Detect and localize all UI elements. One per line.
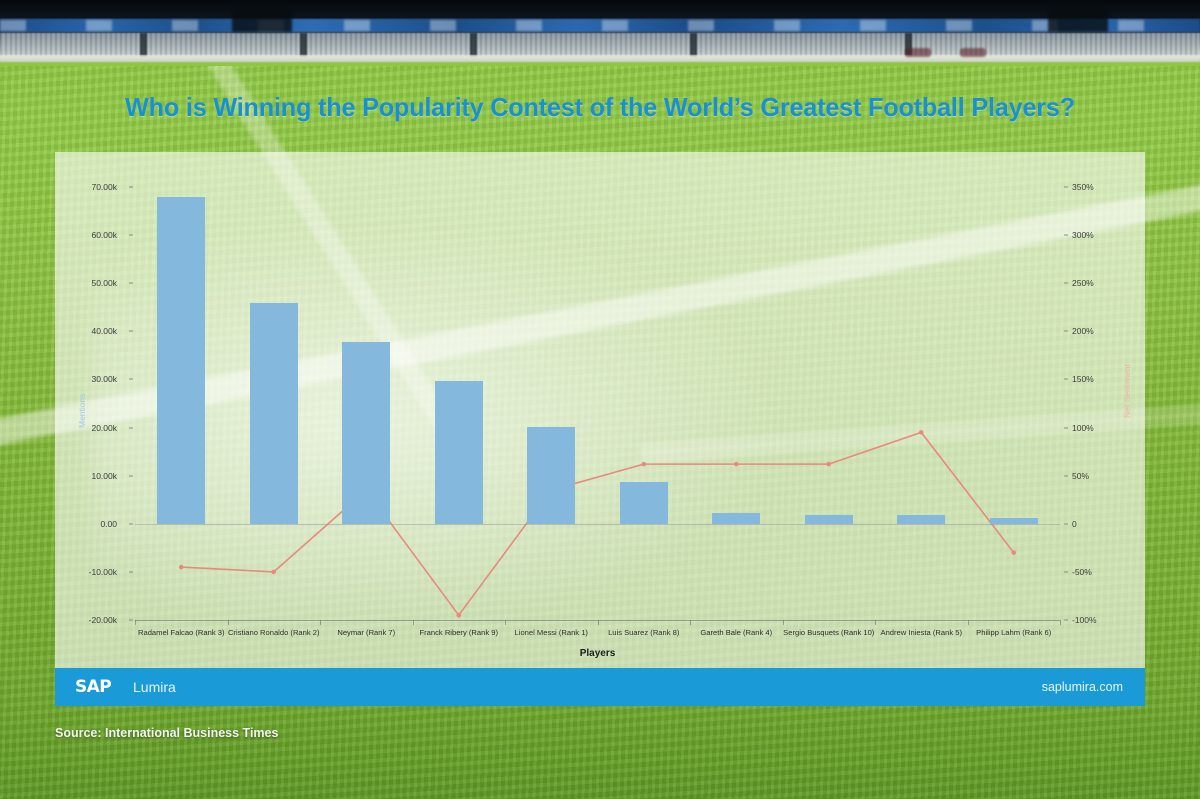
y-axis-tick-mark (129, 571, 133, 572)
zero-baseline (135, 524, 1060, 525)
y2-axis-tick-label: -50% (1072, 567, 1145, 577)
y2-axis-tick-mark (1064, 235, 1068, 236)
sap-logo: SAP (75, 677, 111, 697)
net-sentiment-point[interactable] (1011, 550, 1016, 555)
x-axis-category-label: Lionel Messi (Rank 1) (515, 628, 588, 637)
y2-axis-tick-mark (1064, 523, 1068, 524)
y-axis-tick-label: 0.00 (55, 519, 117, 529)
bar-mentions[interactable] (527, 427, 575, 524)
y-axis-tick-mark (129, 283, 133, 284)
y2-axis-tick-mark (1064, 427, 1068, 428)
y2-axis-title: Net Sentiment (1122, 364, 1132, 418)
y2-axis-tick-mark (1064, 331, 1068, 332)
y2-axis-tick-mark (1064, 379, 1068, 380)
y-axis-tick-mark (129, 620, 133, 621)
x-axis-tick-mark (1060, 620, 1061, 625)
stadium-stairway (470, 33, 477, 57)
x-axis-tick-mark (598, 620, 599, 625)
x-axis-category-label: Philipp Lahm (Rank 6) (976, 628, 1051, 637)
page-title: Who is Winning the Popularity Contest of… (18, 92, 1182, 123)
y-axis-tick-label: 10.00k (55, 471, 117, 481)
y2-axis-tick-label: 100% (1072, 423, 1145, 433)
product-name: Lumira (133, 679, 176, 695)
chart-plot-area: 70.00k60.00k50.00k40.00k30.00k20.00k10.0… (55, 152, 1145, 668)
x-axis-tick-mark (505, 620, 506, 625)
stadium-people (960, 48, 986, 57)
y-axis-tick-mark (129, 427, 133, 428)
y-axis-tick-label: 30.00k (55, 374, 117, 384)
bar-mentions[interactable] (342, 342, 390, 524)
net-sentiment-point[interactable] (641, 462, 646, 467)
x-axis-category-label: Radamel Falcao (Rank 3) (138, 628, 225, 637)
x-axis-category-label: Cristiano Ronaldo (Rank 2) (228, 628, 320, 637)
y-axis-tick-mark (129, 379, 133, 380)
net-sentiment-point[interactable] (826, 462, 831, 467)
y-axis-title: Mentions (77, 393, 87, 428)
net-sentiment-point[interactable] (734, 462, 739, 467)
x-axis-tick-mark (783, 620, 784, 625)
advertising-board-text (0, 20, 1200, 31)
bar-mentions[interactable] (435, 381, 483, 523)
y2-axis-tick-mark (1064, 283, 1068, 284)
y-axis-tick-mark (129, 187, 133, 188)
footer-bar: SAP Lumira saplumira.com (55, 668, 1145, 706)
y2-axis-tick-label: 200% (1072, 326, 1145, 336)
x-axis-tick-mark (135, 620, 136, 625)
bar-mentions[interactable] (712, 513, 760, 524)
stadium-people (905, 48, 931, 57)
x-axis-tick-mark (968, 620, 969, 625)
stadium-tunnel (1048, 10, 1108, 32)
stadium-stairway (690, 33, 697, 57)
bar-mentions[interactable] (805, 515, 853, 524)
y2-axis-tick-label: 50% (1072, 471, 1145, 481)
y2-axis-tick-label: 300% (1072, 230, 1145, 240)
y-axis-tick-label: -10.00k (55, 567, 117, 577)
y-axis-tick-mark (129, 475, 133, 476)
bar-mentions[interactable] (897, 515, 945, 524)
bar-mentions[interactable] (620, 482, 668, 523)
y2-axis-tick-label: 250% (1072, 278, 1145, 288)
bar-mentions[interactable] (250, 303, 298, 523)
x-axis-tick-mark (320, 620, 321, 625)
x-axis-category-label: Sergio Busquets (Rank 10) (783, 628, 874, 637)
net-sentiment-line-series (55, 152, 1145, 668)
website-link[interactable]: saplumira.com (1042, 680, 1123, 694)
x-axis-category-label: Franck Ribery (Rank 9) (420, 628, 499, 637)
y-axis-tick-label: 40.00k (55, 326, 117, 336)
net-sentiment-point[interactable] (179, 565, 184, 570)
y-axis-tick-label: 60.00k (55, 230, 117, 240)
y2-axis-tick-mark (1064, 620, 1068, 621)
stadium-roof (0, 0, 1200, 18)
stadium-perimeter-band (0, 55, 1200, 62)
chart-card: 70.00k60.00k50.00k40.00k30.00k20.00k10.0… (55, 152, 1145, 668)
y-axis-tick-label: -20.00k (55, 615, 117, 625)
x-axis-category-label: Neymar (Rank 7) (337, 628, 395, 637)
y2-axis-tick-mark (1064, 187, 1068, 188)
y-axis-tick-mark (129, 331, 133, 332)
x-axis-tick-mark (875, 620, 876, 625)
x-axis-category-label: Gareth Bale (Rank 4) (700, 628, 772, 637)
x-axis-title: Players (580, 648, 616, 659)
y-axis-tick-mark (129, 235, 133, 236)
y-axis-tick-label: 70.00k (55, 182, 117, 192)
stadium-stairway (140, 33, 147, 57)
net-sentiment-point[interactable] (456, 613, 461, 618)
stadium-photo-header (0, 0, 1200, 66)
y2-axis-tick-label: 0 (1072, 519, 1145, 529)
x-axis-category-label: Luis Suarez (Rank 8) (608, 628, 679, 637)
y2-axis-tick-label: 350% (1072, 182, 1145, 192)
x-axis-tick-mark (413, 620, 414, 625)
bar-mentions[interactable] (157, 197, 205, 524)
x-axis-tick-mark (690, 620, 691, 625)
bar-mentions[interactable] (990, 518, 1038, 524)
y-axis-tick-label: 50.00k (55, 278, 117, 288)
y-axis-tick-mark (129, 523, 133, 524)
y2-axis-tick-label: 150% (1072, 374, 1145, 384)
stadium-seats (0, 33, 1200, 57)
source-credit: Source: International Business Times (55, 726, 278, 740)
stadium-tunnel (232, 10, 292, 32)
y2-axis-tick-mark (1064, 571, 1068, 572)
x-axis-tick-mark (228, 620, 229, 625)
stadium-stairway (300, 33, 307, 57)
x-axis-category-label: Andrew Iniesta (Rank 5) (881, 628, 962, 637)
y2-axis-tick-mark (1064, 475, 1068, 476)
net-sentiment-point[interactable] (271, 570, 276, 575)
y2-axis-tick-label: -100% (1072, 615, 1145, 625)
net-sentiment-point[interactable] (919, 430, 924, 435)
